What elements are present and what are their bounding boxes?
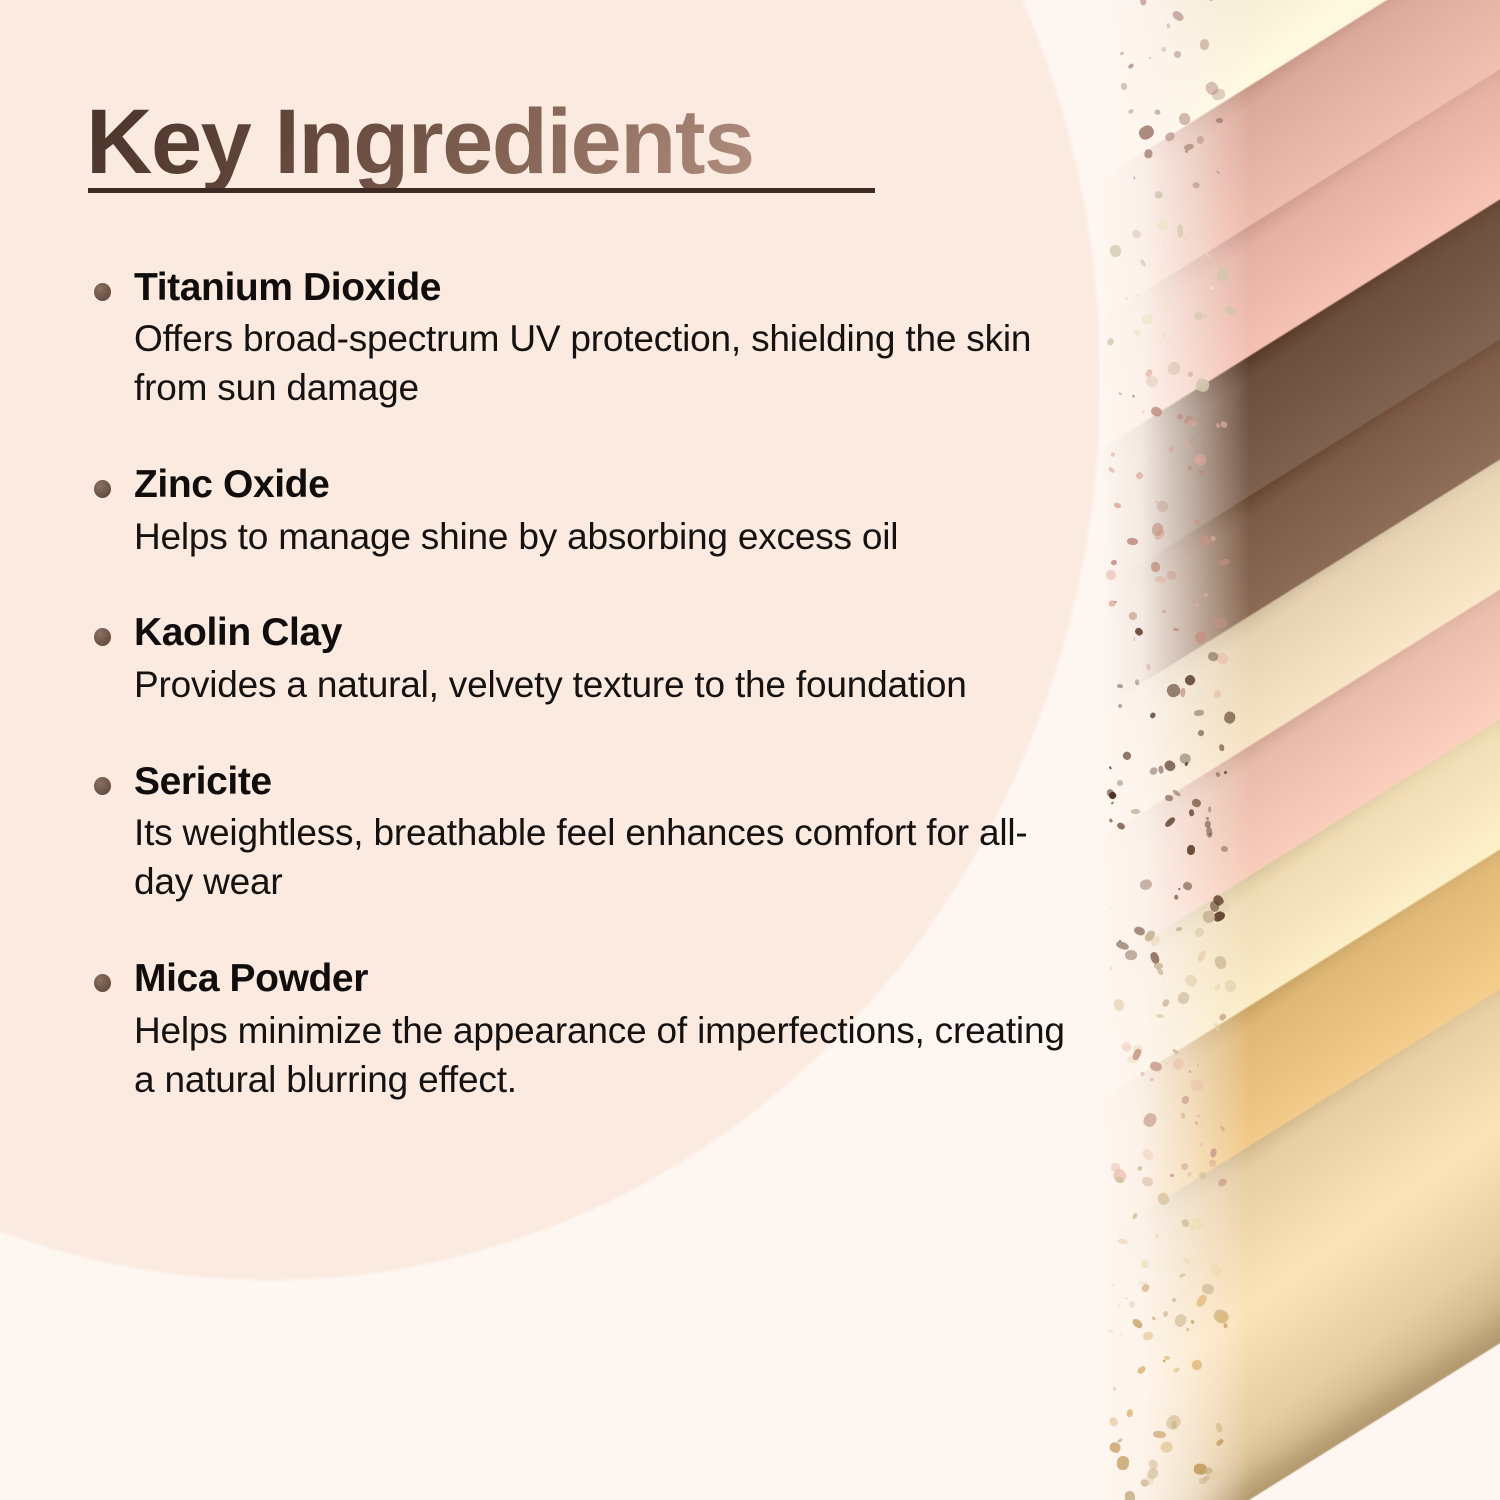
powder-speck bbox=[1117, 1303, 1121, 1307]
ingredient-item: Mica PowderHelps minimize the appearance… bbox=[86, 955, 1080, 1104]
powder-speck bbox=[1214, 617, 1228, 628]
powder-speck bbox=[1158, 766, 1164, 774]
powder-speck bbox=[1187, 844, 1196, 854]
powder-speck bbox=[1118, 392, 1122, 395]
powder-speck bbox=[1134, 680, 1139, 686]
page-title: Key Ingredients bbox=[86, 96, 886, 190]
content-column: Key Ingredients Titanium DioxideOffers b… bbox=[0, 0, 1080, 1500]
ingredient-description: Its weightless, breathable feel enhances… bbox=[134, 809, 1080, 907]
ingredient-name: Zinc Oxide bbox=[134, 461, 1080, 509]
powder-speck bbox=[1194, 709, 1204, 716]
ingredient-name: Sericite bbox=[134, 758, 1080, 806]
bullet-icon bbox=[94, 974, 111, 992]
bullet-icon bbox=[94, 283, 111, 301]
title-block: Key Ingredients bbox=[86, 96, 886, 190]
bullet-icon bbox=[94, 480, 111, 498]
ingredient-name: Titanium Dioxide bbox=[134, 264, 1080, 312]
powder-speck bbox=[1117, 684, 1123, 689]
powder-speck bbox=[1166, 1062, 1168, 1064]
powder-speck bbox=[1195, 453, 1207, 465]
ingredient-description: Offers broad-spectrum UV protection, shi… bbox=[134, 315, 1080, 413]
ingredient-name: Kaolin Clay bbox=[134, 609, 1080, 657]
powder-speck bbox=[1192, 182, 1199, 189]
ingredient-name: Mica Powder bbox=[134, 955, 1080, 1003]
ingredient-item: SericiteIts weightless, breathable feel … bbox=[86, 758, 1080, 907]
powder-speck bbox=[1217, 268, 1229, 282]
powder-speck bbox=[1119, 940, 1121, 942]
ingredient-item: Zinc OxideHelps to manage shine by absor… bbox=[86, 461, 1080, 561]
powder-speck bbox=[1188, 809, 1194, 816]
powder-speck bbox=[1114, 601, 1117, 603]
powder-speck bbox=[1166, 340, 1171, 345]
title-underline bbox=[88, 188, 875, 193]
bullet-icon bbox=[94, 628, 111, 646]
key-ingredients-infographic: Key Ingredients Titanium DioxideOffers b… bbox=[0, 0, 1500, 1500]
powder-speck bbox=[1200, 1142, 1204, 1146]
ingredient-list: Titanium DioxideOffers broad-spectrum UV… bbox=[86, 264, 1080, 1105]
ingredient-description: Helps to manage shine by absorbing exces… bbox=[134, 513, 1080, 562]
powder-speck bbox=[1182, 613, 1184, 616]
ingredient-description: Provides a natural, velvety texture to t… bbox=[134, 661, 1080, 710]
powder-speck bbox=[1120, 1333, 1122, 1336]
ingredient-description: Helps minimize the appearance of imperfe… bbox=[134, 1007, 1080, 1105]
powder-speck bbox=[1117, 1455, 1130, 1470]
powder-speck bbox=[1167, 570, 1177, 579]
powder-speck bbox=[1152, 1430, 1165, 1438]
ingredient-item: Kaolin ClayProvides a natural, velvety t… bbox=[86, 609, 1080, 709]
powder-speck bbox=[1131, 809, 1140, 814]
ingredient-item: Titanium DioxideOffers broad-spectrum UV… bbox=[86, 264, 1080, 413]
powder-swatch-strip bbox=[1100, 0, 1500, 1500]
powder-speck bbox=[1143, 149, 1152, 159]
bullet-icon bbox=[94, 777, 111, 795]
